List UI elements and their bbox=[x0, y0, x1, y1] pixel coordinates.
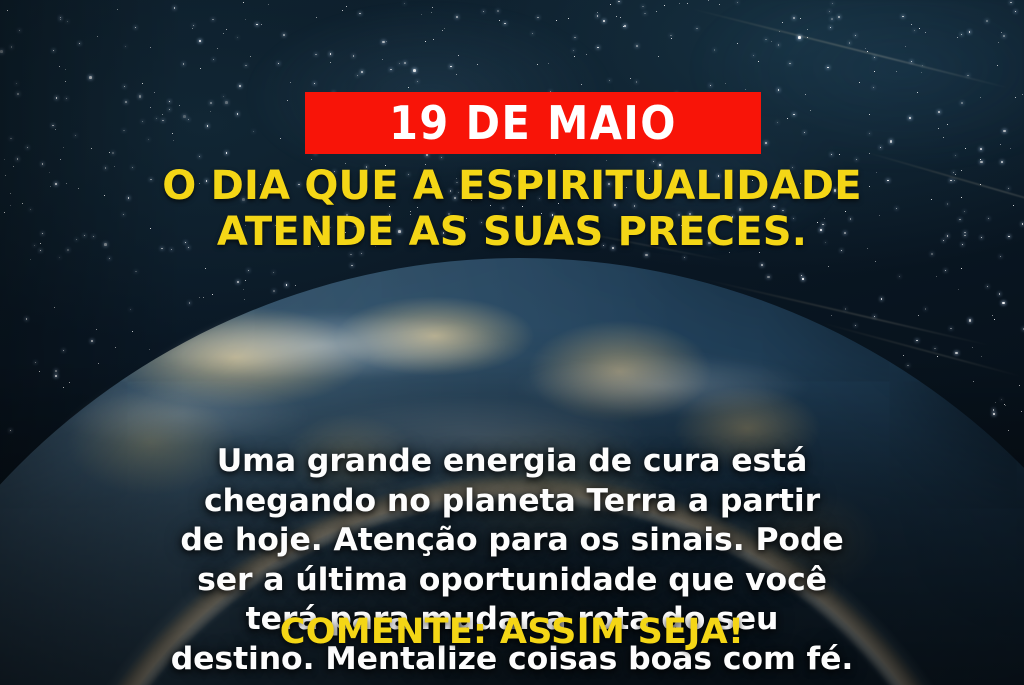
poster-canvas: 19 DE MAIO O DIA QUE A ESPIRITUALIDADE A… bbox=[0, 0, 1024, 685]
body-line-1: Uma grande energia de cura está bbox=[50, 442, 974, 482]
date-banner: 19 DE MAIO bbox=[305, 92, 761, 154]
headline-line-1: O DIA QUE A ESPIRITUALIDADE bbox=[0, 164, 1024, 210]
headline-line-2: ATENDE AS SUAS PRECES. bbox=[0, 210, 1024, 256]
headline: O DIA QUE A ESPIRITUALIDADE ATENDE AS SU… bbox=[0, 164, 1024, 255]
poster-content: 19 DE MAIO O DIA QUE A ESPIRITUALIDADE A… bbox=[0, 0, 1024, 685]
call-to-action-label: COMENTE: ASSIM SEJA! bbox=[0, 612, 1024, 652]
date-banner-label: 19 DE MAIO bbox=[389, 100, 677, 146]
body-line-4: ser a última oportunidade que você bbox=[50, 561, 974, 601]
body-line-2: chegando no planeta Terra a partir bbox=[50, 482, 974, 522]
body-line-3: de hoje. Atenção para os sinais. Pode bbox=[50, 521, 974, 561]
